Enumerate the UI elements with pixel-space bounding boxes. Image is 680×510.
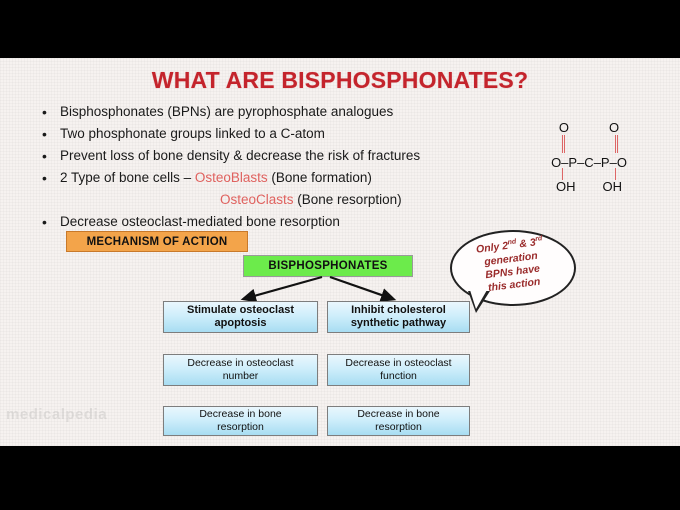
list-item: • Bisphosphonates (BPNs) are pyrophospha… xyxy=(42,102,512,122)
chem-top-atoms: O O xyxy=(519,120,659,135)
flow-box-line1: Decrease in osteoclast xyxy=(187,357,293,369)
flow-box-line2: resorption xyxy=(217,421,264,433)
chem-backbone: O–P–C–P–O xyxy=(519,155,659,170)
bullet-text: OsteoClasts (Bone resorption) xyxy=(220,190,512,210)
bullet-text-suffix: (Bone formation) xyxy=(268,170,372,185)
bullet-text: Prevent loss of bone density & decrease … xyxy=(60,146,512,166)
flow-box-line2: number xyxy=(223,370,259,382)
letterbox-top-bar xyxy=(0,0,680,58)
chem-double-bond-right xyxy=(615,135,618,153)
bullet-text: Bisphosphonates (BPNs) are pyrophosphate… xyxy=(60,102,512,122)
flow-box-right-2: Decrease in osteoclastfunction xyxy=(327,354,470,386)
arrow-to-right-branch xyxy=(330,277,390,298)
osteoblasts-highlight: OsteoBlasts xyxy=(195,170,268,185)
chemical-structure-diagram: O O O–P–C–P–O OH OH xyxy=(519,120,659,200)
flow-box-line1: Decrease in bone xyxy=(199,408,281,420)
list-item: OsteoClasts (Bone resorption) xyxy=(42,190,512,210)
bullet-marker: • xyxy=(42,212,60,232)
bullet-marker: • xyxy=(42,102,60,122)
watermark: medicalpedia xyxy=(6,406,156,432)
flow-box-line1: Decrease in osteoclast xyxy=(345,357,451,369)
callout-sup-2: rd xyxy=(535,235,543,243)
flow-box-line1: Stimulate osteoclast xyxy=(187,304,294,316)
flowchart-root-node: BISPHOSPHONATES xyxy=(243,255,413,277)
flow-box-line2: function xyxy=(380,370,417,382)
chem-atom-oh-left: OH xyxy=(556,179,576,194)
bullet-text-suffix: (Bone resorption) xyxy=(294,192,402,207)
callout-line-1b: & 3 xyxy=(516,236,537,250)
bullet-text: Decrease osteoclast-mediated bone resorp… xyxy=(60,212,512,232)
chem-double-bond-left xyxy=(562,135,565,153)
flow-box-right-3: Decrease in boneresorption xyxy=(327,406,470,436)
list-item: • Two phosphonate groups linked to a C-a… xyxy=(42,124,512,144)
flow-box-left-1: Stimulate osteoclastapoptosis xyxy=(163,301,318,333)
flow-box-line1: Decrease in bone xyxy=(357,408,439,420)
presentation-slide: WHAT ARE BISPHOSPHONATES? • Bisphosphona… xyxy=(0,58,680,446)
chem-atom-oh-right: OH xyxy=(603,179,623,194)
flow-box-line2: apoptosis xyxy=(215,317,267,329)
bullet-marker: • xyxy=(42,124,60,144)
flow-box-line1: Inhibit cholesterol xyxy=(351,304,446,316)
bullet-text-prefix: 2 Type of bone cells – xyxy=(60,170,195,185)
chem-bottom-atoms: OH OH xyxy=(519,179,659,194)
video-frame: WHAT ARE BISPHOSPHONATES? • Bisphosphona… xyxy=(0,0,680,510)
flow-box-line2: resorption xyxy=(375,421,422,433)
list-item: • Decrease osteoclast-mediated bone reso… xyxy=(42,212,512,232)
chem-atom-o-top-right: O xyxy=(609,120,619,135)
arrow-to-left-branch xyxy=(247,277,322,298)
chem-atom-o-top-left: O xyxy=(559,120,569,135)
bullet-list: • Bisphosphonates (BPNs) are pyrophospha… xyxy=(42,102,512,234)
mechanism-of-action-banner: MECHANISM OF ACTION xyxy=(66,231,248,252)
flow-box-line2: synthetic pathway xyxy=(351,317,446,329)
flow-box-left-3: Decrease in boneresorption xyxy=(163,406,318,436)
page-title: WHAT ARE BISPHOSPHONATES? xyxy=(0,67,680,94)
bullet-text: Two phosphonate groups linked to a C-ato… xyxy=(60,124,512,144)
bullet-marker: • xyxy=(42,168,60,188)
callout-bubble-text: Only 2nd & 3rd generation BPNs have this… xyxy=(455,230,570,305)
flow-box-left-2: Decrease in osteoclastnumber xyxy=(163,354,318,386)
list-item: • 2 Type of bone cells – OsteoBlasts (Bo… xyxy=(42,168,512,188)
osteoclasts-highlight: OsteoClasts xyxy=(220,192,294,207)
bullet-marker: • xyxy=(42,146,60,166)
letterbox-bottom-bar xyxy=(0,446,680,510)
list-item: • Prevent loss of bone density & decreas… xyxy=(42,146,512,166)
flow-box-right-1: Inhibit cholesterolsynthetic pathway xyxy=(327,301,470,333)
bullet-text: 2 Type of bone cells – OsteoBlasts (Bone… xyxy=(60,168,512,188)
